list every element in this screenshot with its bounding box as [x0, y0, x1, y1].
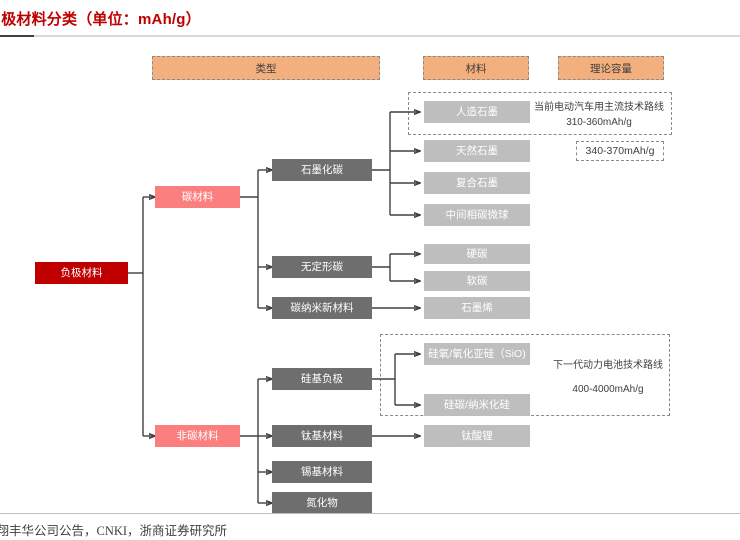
column-header-capacity: 理论容量: [558, 56, 664, 80]
node-leaf-silicon-carbon[interactable]: 硅碳/纳米化硅: [424, 394, 530, 416]
annotation-next-gen-line1: 下一代动力电池技术路线: [528, 357, 688, 375]
node-leaf-composite-graphite[interactable]: 复合石墨: [424, 172, 530, 194]
node-leaf-graphene[interactable]: 石墨烯: [424, 297, 530, 319]
node-leaf-artificial-graphite[interactable]: 人造石墨: [424, 101, 530, 123]
diagram-canvas: 负极材料分类（单位：mAh/g） 类型 材料 理论容量 340-370mAh/g: [0, 0, 740, 540]
title-divider-accent: [0, 35, 34, 37]
capacity-box-natural-graphite: 340-370mAh/g: [576, 141, 664, 161]
node-leaf-mcmb[interactable]: 中间相碳微球: [424, 204, 530, 226]
node-root-anode-material[interactable]: 负极材料: [35, 262, 128, 284]
page-title: 负极材料分类（单位：mAh/g）: [0, 8, 406, 29]
node-category-non-carbon[interactable]: 非碳材料: [155, 425, 240, 447]
source-note: ：翔丰华公司公告，CNKI，浙商证券研究所: [0, 520, 484, 539]
title-divider: [0, 35, 740, 37]
node-mid-nitride[interactable]: 氮化物: [272, 492, 372, 514]
node-mid-graphitized-carbon[interactable]: 石墨化碳: [272, 159, 372, 181]
footer-divider: [0, 513, 740, 514]
node-leaf-silicon-oxide[interactable]: 硅氧/氧化亚硅（SiO): [424, 343, 530, 365]
node-leaf-lithium-titanate[interactable]: 钛酸锂: [424, 425, 530, 447]
node-mid-silicon-anode[interactable]: 硅基负极: [272, 368, 372, 390]
annotation-next-gen-line2: 400-4000mAh/g: [528, 381, 688, 399]
annotation-current-route-line2: 310-360mAh/g: [528, 114, 670, 132]
node-mid-tin-based[interactable]: 锡基材料: [272, 461, 372, 483]
node-leaf-soft-carbon[interactable]: 软碳: [424, 271, 530, 291]
node-category-carbon[interactable]: 碳材料: [155, 186, 240, 208]
node-leaf-natural-graphite[interactable]: 天然石墨: [424, 140, 530, 162]
column-header-type: 类型: [152, 56, 380, 80]
column-header-material: 材料: [423, 56, 529, 80]
node-mid-amorphous-carbon[interactable]: 无定形碳: [272, 256, 372, 278]
node-leaf-hard-carbon[interactable]: 硬碳: [424, 244, 530, 264]
node-mid-carbon-nano-materials[interactable]: 碳纳米新材料: [272, 297, 372, 319]
node-mid-titanium-based[interactable]: 钛基材料: [272, 425, 372, 447]
